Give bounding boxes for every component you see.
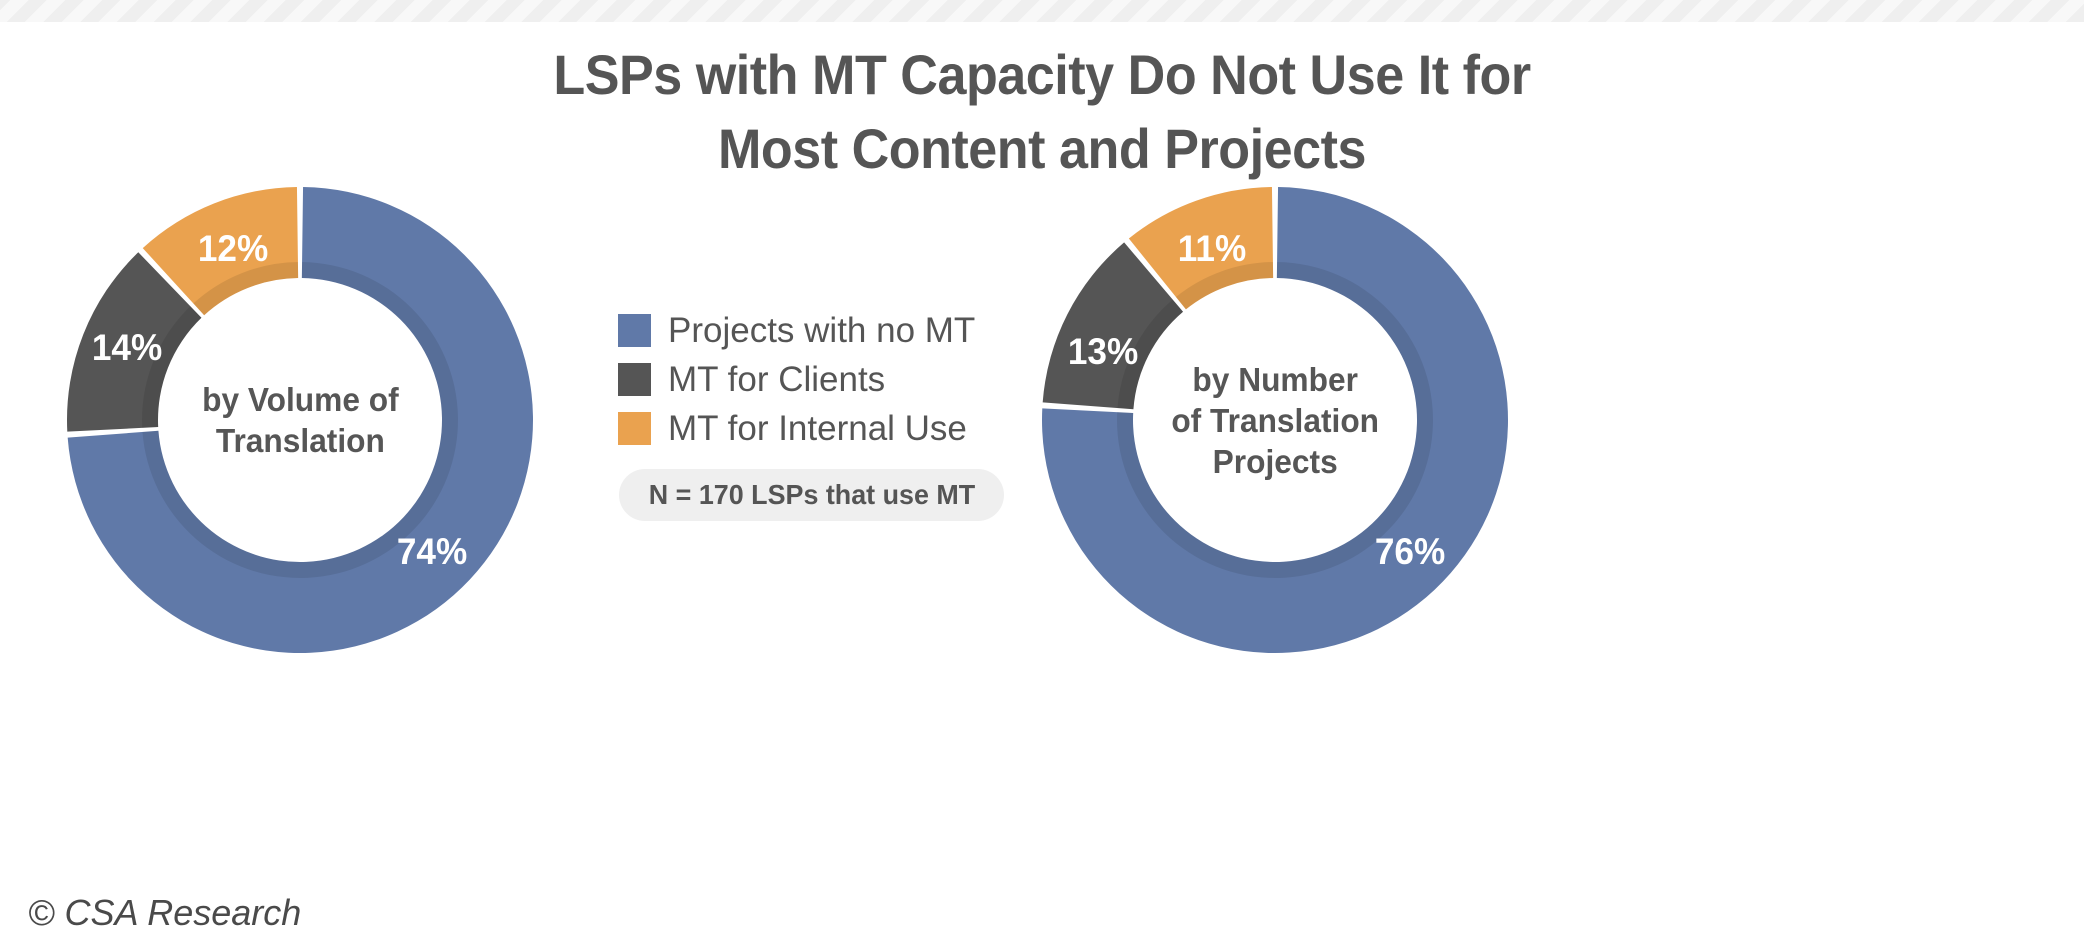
legend-item-mt-for-internal-use: MT for Internal Use [618,404,1038,453]
sample-size-text: N = 170 LSPs that use MT [648,481,974,509]
donut-left-svg [65,185,535,655]
copyright-notice: © CSA Research [28,895,301,931]
legend-label-mt-for-internal-use: MT for Internal Use [668,411,967,446]
donut-left-label-orange: 12% [198,230,268,267]
chart-title-line-2: Most Content and Projects [73,112,2011,186]
chart-title-line-1: LSPs with MT Capacity Do Not Use It for [73,38,2011,112]
donut-right-label-gray: 13% [1068,333,1138,370]
sample-size-badge: N = 170 LSPs that use MT [619,469,1004,521]
chart-title: LSPs with MT Capacity Do Not Use It for … [73,38,2011,186]
donut-chart-by-volume: by Volume of Translation 74% 14% 12% [65,185,535,655]
legend-swatch-blue-icon [618,314,651,347]
donut-right-svg [1040,185,1510,655]
donut-right-label-blue: 76% [1375,533,1445,570]
legend-label-mt-for-clients: MT for Clients [668,362,885,397]
top-stripe-banner [0,0,2084,22]
legend-swatch-gray-icon [618,363,651,396]
legend-item-mt-for-clients: MT for Clients [618,355,1038,404]
chart-legend: Projects with no MT MT for Clients MT fo… [618,306,1038,453]
donut-right-label-orange: 11% [1178,230,1246,267]
legend-swatch-orange-icon [618,412,651,445]
legend-label-projects-with-no-mt: Projects with no MT [668,313,975,348]
donut-left-label-blue: 74% [397,533,467,570]
legend-item-projects-with-no-mt: Projects with no MT [618,306,1038,355]
donut-chart-by-projects: by Number of Translation Projects 76% 13… [1040,185,1510,655]
donut-left-label-gray: 14% [92,329,162,366]
